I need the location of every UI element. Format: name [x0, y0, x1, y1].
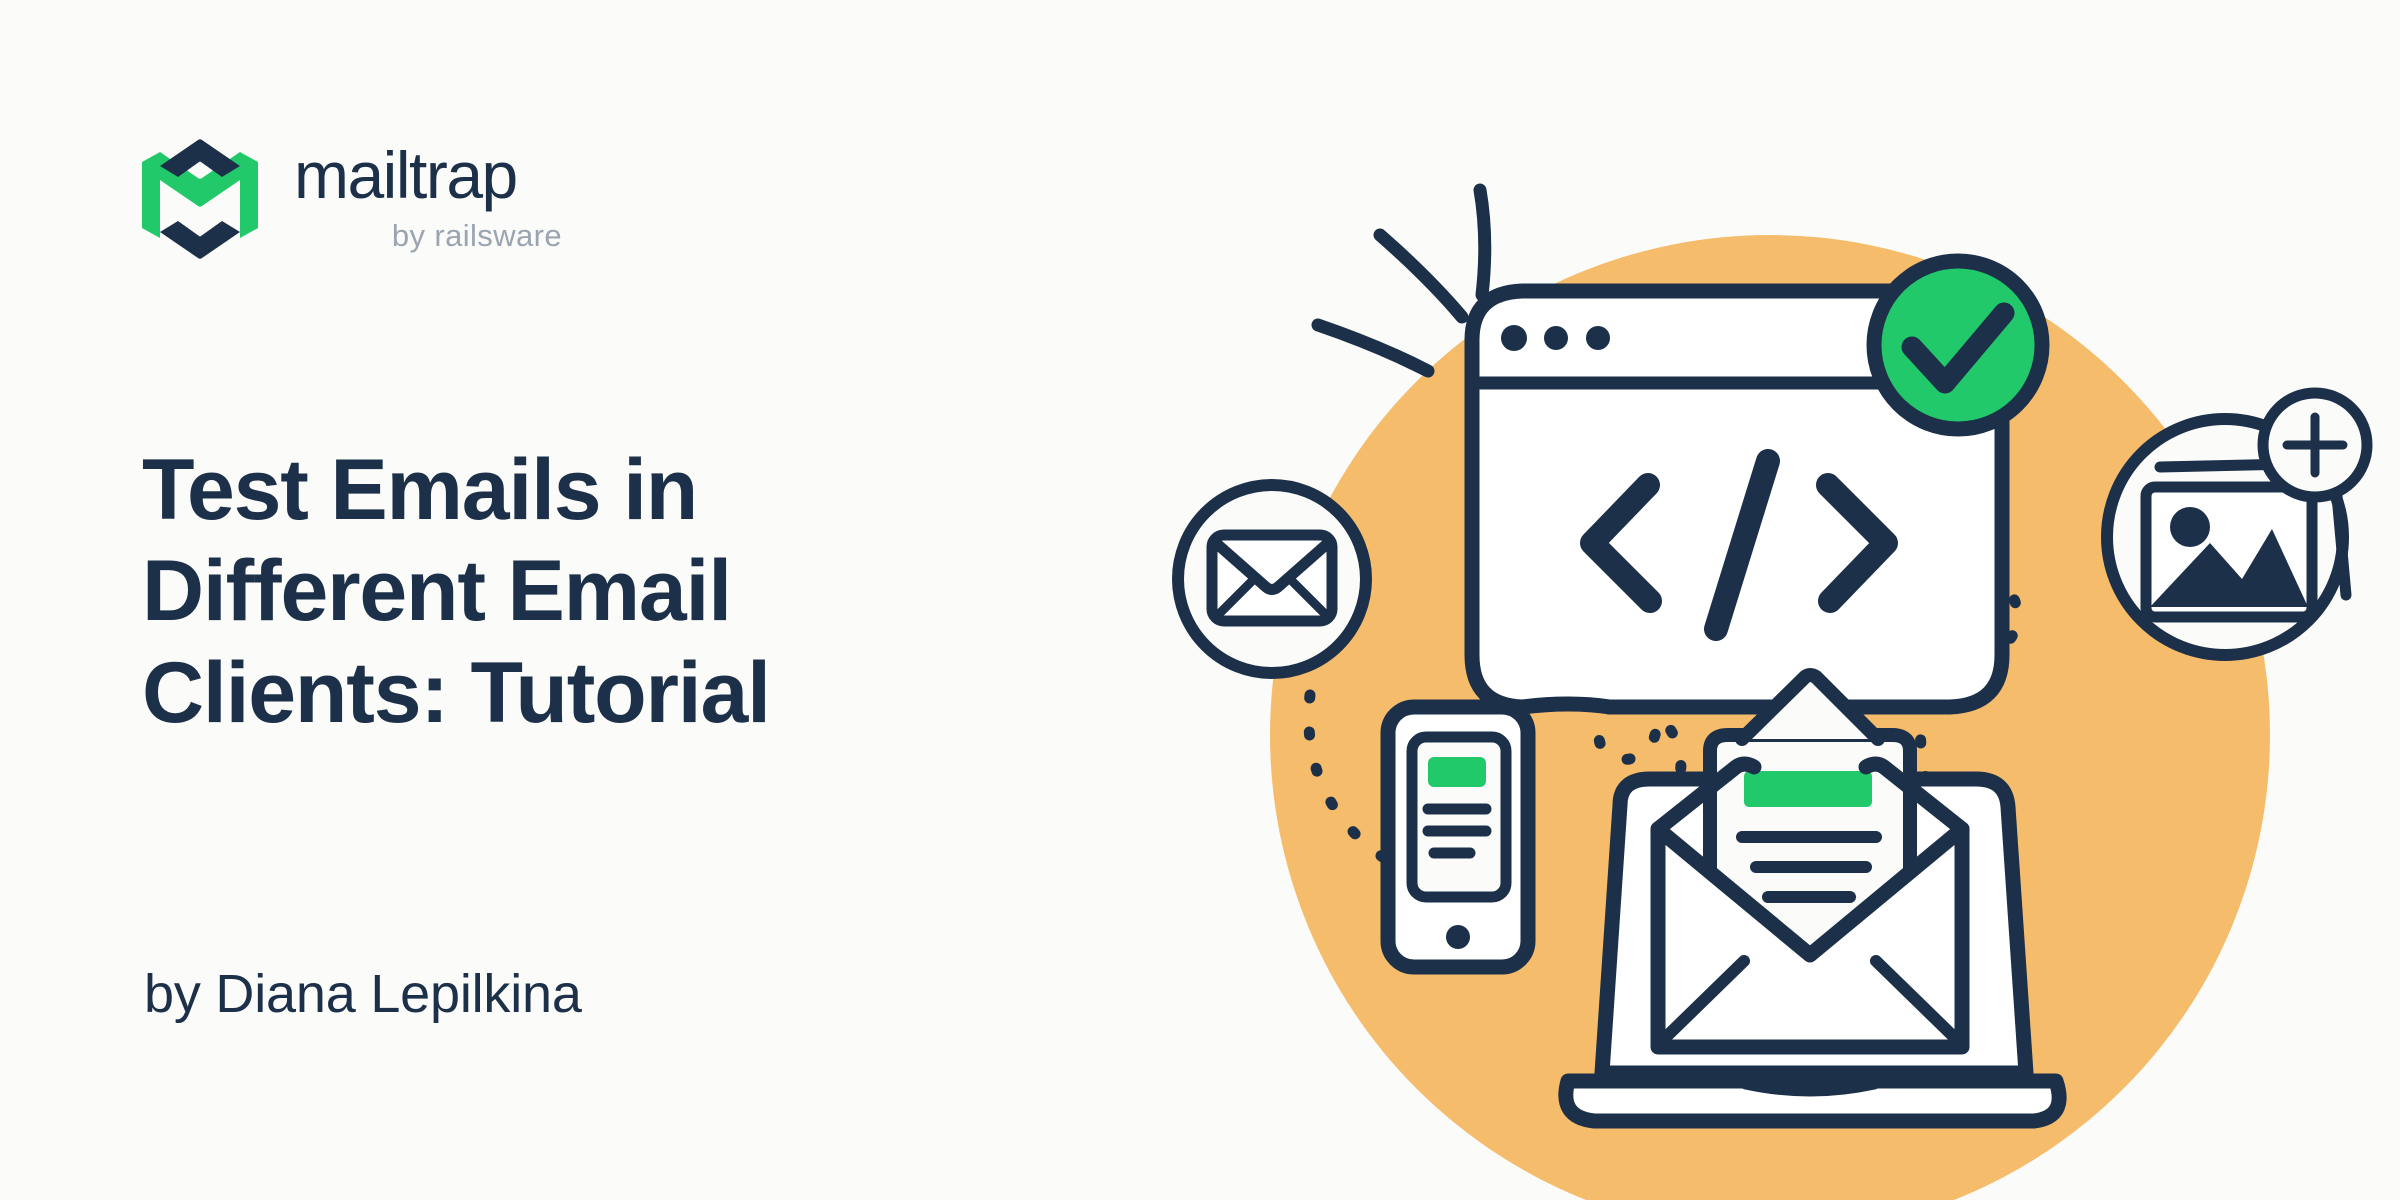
author-byline: by Diana Lepilkina	[144, 963, 582, 1025]
mailtrap-hexagon-m-logo-icon	[140, 130, 260, 262]
brand-wordmark-group: mailtrap by railsware	[294, 138, 566, 254]
brand-byline: by railsware	[392, 218, 566, 254]
page-title-line-1: Test Emails in	[142, 442, 697, 538]
check-badge-icon	[1874, 261, 2042, 429]
brand-logo[interactable]: mailtrap by railsware	[140, 130, 566, 262]
svg-text:mailtrap: mailtrap	[294, 142, 517, 212]
email-testing-illustration	[1150, 95, 2400, 1200]
page-title-line-3: Clients: Tutorial	[142, 645, 770, 741]
plus-badge-icon	[2263, 393, 2367, 497]
envelope-circle-icon	[1178, 485, 1366, 673]
smartphone-email-icon	[1388, 707, 1528, 967]
brand-name-wordmark: mailtrap	[294, 142, 566, 214]
page-title: Test Emails inDifferent EmailClients: Tu…	[142, 440, 1042, 744]
page-title-line-2: Different Email	[142, 543, 731, 639]
poster-canvas: mailtrap by railsware Test Emails inDiff…	[0, 0, 2400, 1200]
